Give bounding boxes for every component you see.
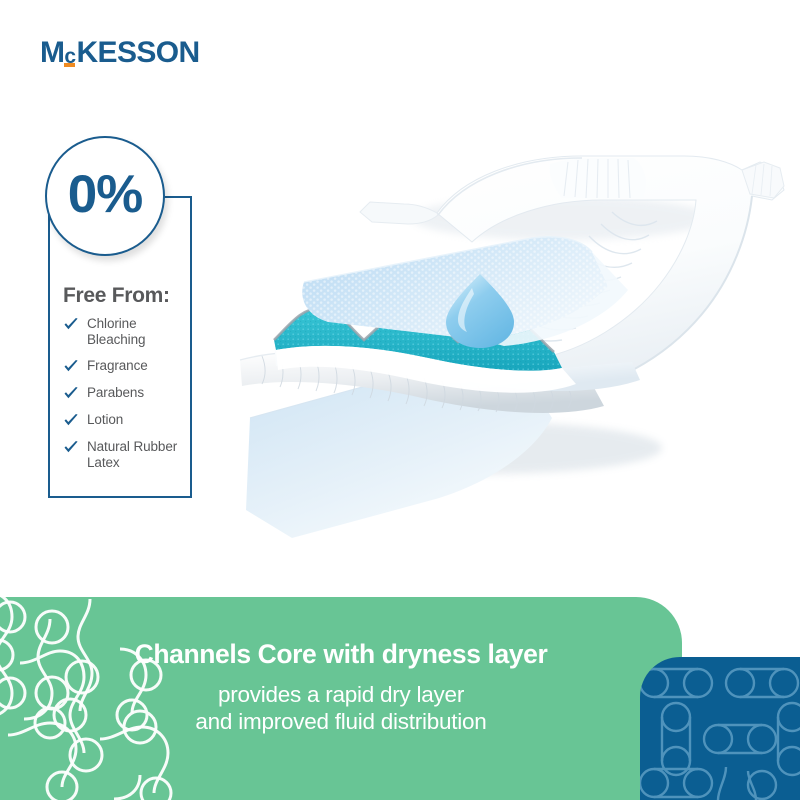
check-icon — [63, 413, 79, 429]
banner-subline-1: provides a rapid dry layer — [0, 681, 682, 708]
list-item: Lotion — [63, 412, 181, 428]
logo-letter-m: M — [40, 38, 64, 68]
check-icon — [63, 359, 79, 375]
logo-letter-c-group: c — [64, 38, 75, 68]
poster-canvas: M c KESSON 0% Free From: Chlorine Bleach… — [0, 0, 800, 800]
banner-headline: Channels Core with dryness layer — [0, 640, 682, 670]
list-item: Parabens — [63, 385, 181, 401]
product-illustration — [232, 118, 800, 538]
free-from-heading: Free From: — [63, 284, 170, 308]
check-icon — [63, 386, 79, 402]
check-icon — [63, 440, 79, 456]
banner-subline-2: and improved fluid distribution — [0, 708, 682, 735]
logo-wordmark: M c KESSON — [40, 38, 200, 68]
list-item-label: Parabens — [87, 385, 144, 401]
list-item-label: Natural Rubber Latex — [87, 439, 181, 470]
zero-percent-circle: 0% — [45, 136, 165, 256]
list-item-label: Fragrance — [87, 358, 148, 374]
list-item: Natural Rubber Latex — [63, 439, 181, 470]
message-banner: Channels Core with dryness layer provide… — [0, 597, 682, 800]
list-item-label: Lotion — [87, 412, 123, 428]
free-from-badge: 0% Free From: Chlorine Bleaching Fragran… — [45, 136, 205, 501]
logo-orange-underline — [64, 63, 75, 67]
check-icon — [63, 317, 79, 333]
list-item: Chlorine Bleaching — [63, 316, 181, 347]
zero-percent-label: 0% — [68, 168, 143, 221]
free-from-list: Chlorine Bleaching Fragrance Parabens Lo… — [63, 316, 181, 481]
logo-letters-kesson: KESSON — [76, 38, 199, 68]
mckesson-logo: M c KESSON — [40, 38, 200, 68]
list-item-label: Chlorine Bleaching — [87, 316, 181, 347]
banner-text-group: Channels Core with dryness layer provide… — [0, 640, 682, 736]
list-item: Fragrance — [63, 358, 181, 374]
